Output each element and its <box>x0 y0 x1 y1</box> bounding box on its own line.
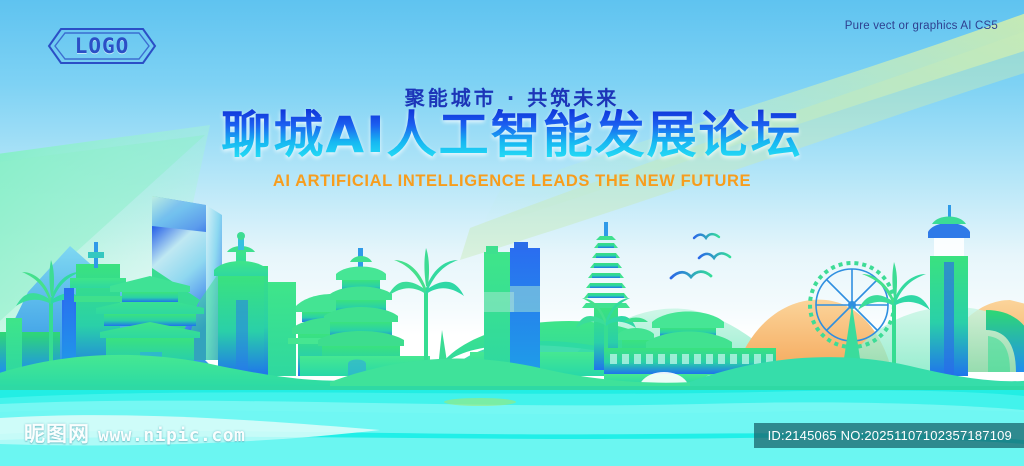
page-title: 聊城AI人工智能发展论坛 <box>0 109 1024 162</box>
site-watermark-url: www.nipic.com <box>98 425 245 446</box>
corner-note: Pure vect or graphics AI CS5 <box>845 20 998 32</box>
site-watermark-cn: 昵图网 <box>24 418 90 448</box>
asset-id-bar: ID:2145065 NO:20251107102357187109 <box>754 423 1024 448</box>
water-islet <box>444 398 516 406</box>
site-watermark: 昵图网 www.nipic.com <box>24 418 245 448</box>
logo-badge[interactable]: LOGO <box>47 27 157 65</box>
poster-canvas: LOGO Pure vect or graphics AI CS5 聚能城市 ·… <box>0 0 1024 466</box>
subtitle-english: AI ARTIFICIAL INTELLIGENCE LEADS THE NEW… <box>0 172 1024 191</box>
logo-text: LOGO <box>47 27 157 65</box>
waterfront <box>0 0 1024 466</box>
